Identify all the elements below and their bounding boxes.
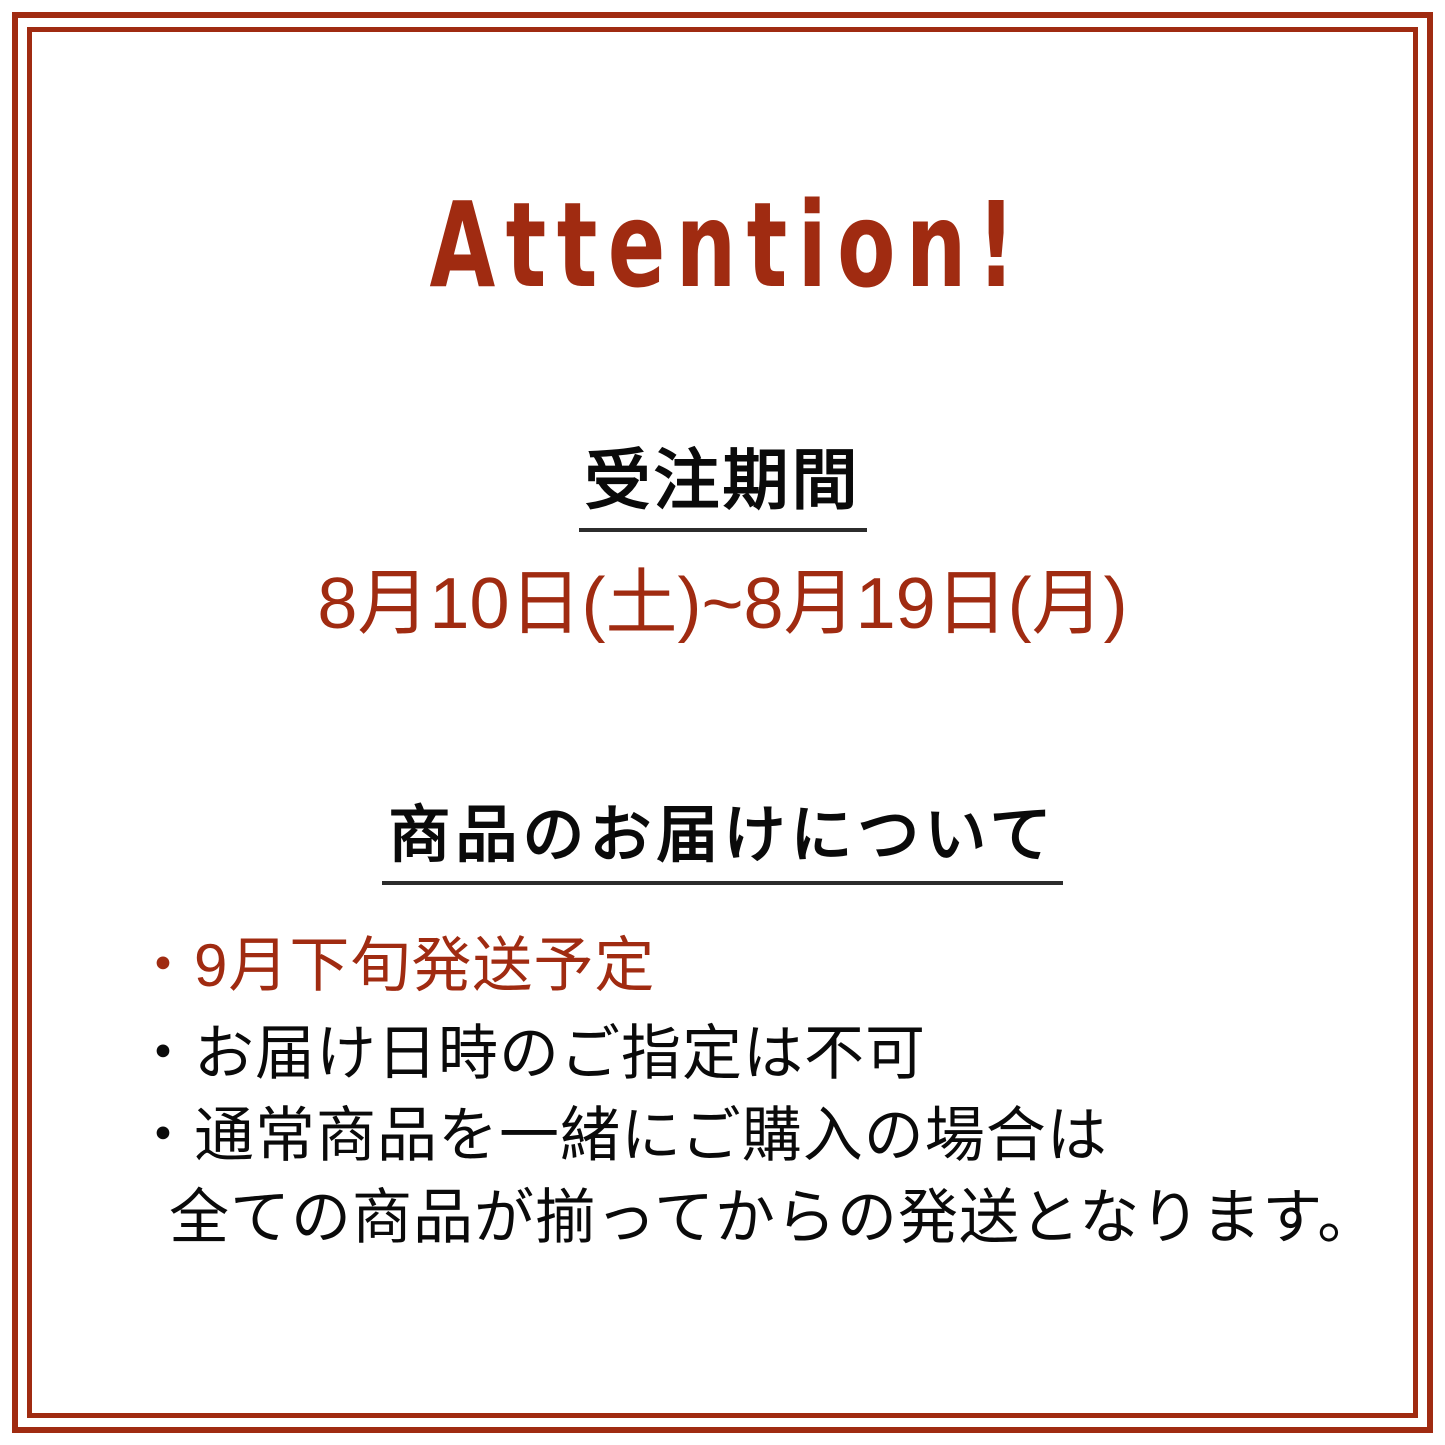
list-item: ・9月下旬発送予定 [133,925,1383,1007]
bullet-marker-icon: ・ [133,932,194,999]
list-item-label: 9月下旬発送予定 [194,932,655,999]
attention-notice-card: Attention! 受注期間 8月10日(土)~8月19日(月) 商品のお届け… [0,0,1445,1445]
delivery-notes-list: ・9月下旬発送予定 ・お届け日時のご指定は不可 ・通常商品を一緒にご購入の場合は… [133,925,1383,1259]
section-heading-delivery-text: 商品のお届けについて [382,805,1062,885]
section-heading-order-period-text: 受注期間 [579,447,867,532]
list-item: ・通常商品を一緒にご購入の場合は [133,1095,1383,1177]
section-heading-order-period: 受注期間 [0,447,1445,532]
order-period-dates: 8月10日(土)~8月19日(月) [0,568,1445,640]
bullet-marker-icon: ・ [133,1102,194,1169]
list-item: ・お届け日時のご指定は不可 [133,1013,1383,1095]
bullet-marker-icon: ・ [133,1020,194,1087]
page-title: Attention! [145,178,1301,314]
list-item-label: 通常商品を一緒にご購入の場合は [194,1102,1108,1169]
section-heading-delivery: 商品のお届けについて [0,805,1445,885]
list-item-label: お届け日時のご指定は不可 [194,1020,926,1087]
list-item-continuation: 全ての商品が揃ってからの発送となります。 [133,1177,1383,1259]
notice-content: Attention! 受注期間 8月10日(土)~8月19日(月) 商品のお届け… [0,0,1445,1445]
